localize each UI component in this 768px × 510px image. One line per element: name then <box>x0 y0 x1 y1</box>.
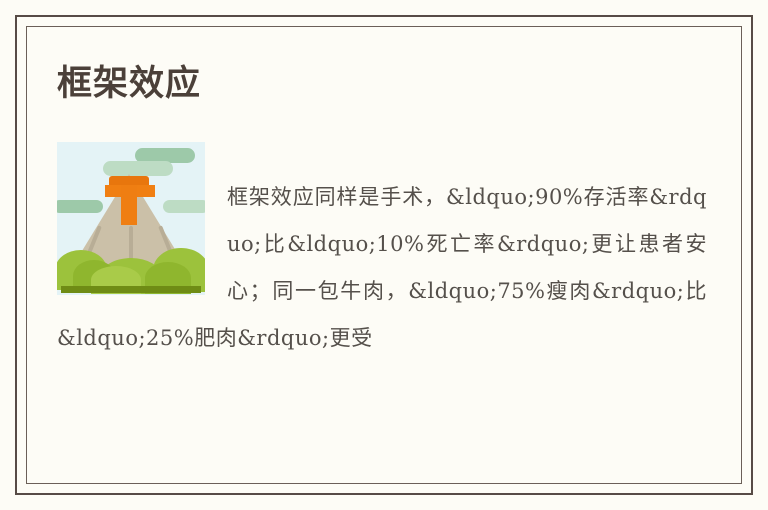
ground-strip <box>61 286 201 293</box>
page-content: 框架效应 框架效应同样是手术，&ldquo;90%存活率&rdquo;比&ldq… <box>26 26 742 484</box>
article-page: { "page": { "title": "框架效应", "background… <box>0 0 768 510</box>
article-body: 框架效应同样是手术，&ldquo;90%存活率&rdquo;比&ldquo;10… <box>57 142 707 412</box>
volcano-illustration <box>57 142 205 295</box>
page-title: 框架效应 <box>57 62 201 106</box>
lava-flow <box>121 185 137 225</box>
